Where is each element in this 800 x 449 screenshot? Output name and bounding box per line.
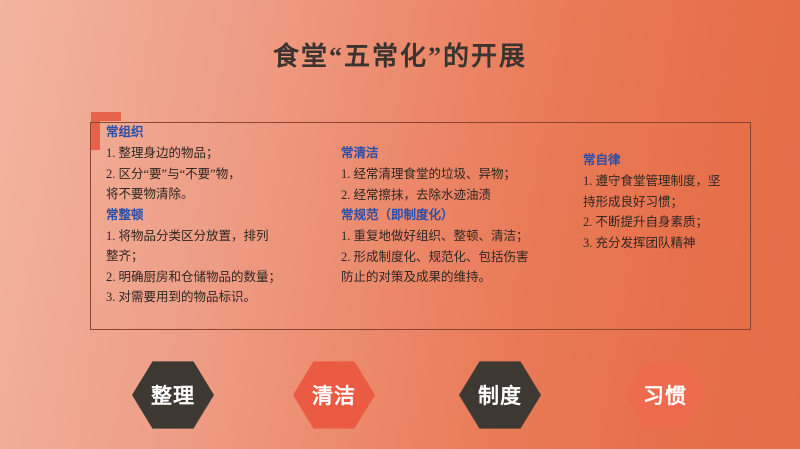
- section-heading: 常组织: [106, 122, 281, 143]
- section-line: 2. 明确厨房和仓储物品的数量；: [106, 267, 281, 288]
- hexagon-badge-qingjie[interactable]: 清洁: [293, 360, 375, 430]
- text-column-3: 常自律 1. 遵守食堂管理制度，坚 持形成良好习惯； 2. 不断提升自身素质； …: [583, 150, 721, 253]
- section-line: 2. 经常擦抹，去除水迹油渍: [341, 185, 529, 206]
- section-heading: 常整顿: [106, 205, 281, 226]
- section-heading: 常自律: [583, 150, 721, 171]
- section-line: 2. 形成制度化、规范化、包括伤害: [341, 247, 529, 268]
- section-line: 1. 遵守食堂管理制度，坚: [583, 171, 721, 192]
- section-line: 2. 不断提升自身素质；: [583, 212, 721, 233]
- section-line: 2. 区分“要”与“不要”物，: [106, 164, 281, 185]
- section-line: 1. 整理身边的物品；: [106, 143, 281, 164]
- section-line: 1. 将物品分类区分放置，排列: [106, 226, 281, 247]
- section-line: 整齐；: [106, 246, 281, 267]
- section-line: 1. 经常清理食堂的垃圾、异物；: [341, 164, 529, 185]
- text-column-2: 常清洁 1. 经常清理食堂的垃圾、异物； 2. 经常擦抹，去除水迹油渍 常规范（…: [341, 143, 529, 288]
- section-line: 将不要物清除。: [106, 184, 281, 205]
- section-line: 持形成良好习惯；: [583, 192, 721, 213]
- hexagon-badge-xiguan[interactable]: 习惯: [624, 360, 706, 430]
- hexagon-badge-zhengli[interactable]: 整理: [132, 360, 214, 430]
- page-title: 食堂“五常化”的开展: [0, 36, 800, 73]
- section-heading: 常规范（即制度化）: [341, 205, 529, 226]
- section-line: 3. 对需要用到的物品标识。: [106, 287, 281, 308]
- section-line: 3. 充分发挥团队精神: [583, 233, 721, 254]
- section-line: 防止的对策及成果的维持。: [341, 267, 529, 288]
- slide-canvas: 食堂“五常化”的开展 常组织 1. 整理身边的物品； 2. 区分“要”与“不要”…: [0, 0, 800, 449]
- hexagon-badge-zhidu[interactable]: 制度: [459, 360, 541, 430]
- section-line: 1. 重复地做好组织、整顿、清洁；: [341, 226, 529, 247]
- text-column-1: 常组织 1. 整理身边的物品； 2. 区分“要”与“不要”物， 将不要物清除。 …: [106, 122, 281, 308]
- section-heading: 常清洁: [341, 143, 529, 164]
